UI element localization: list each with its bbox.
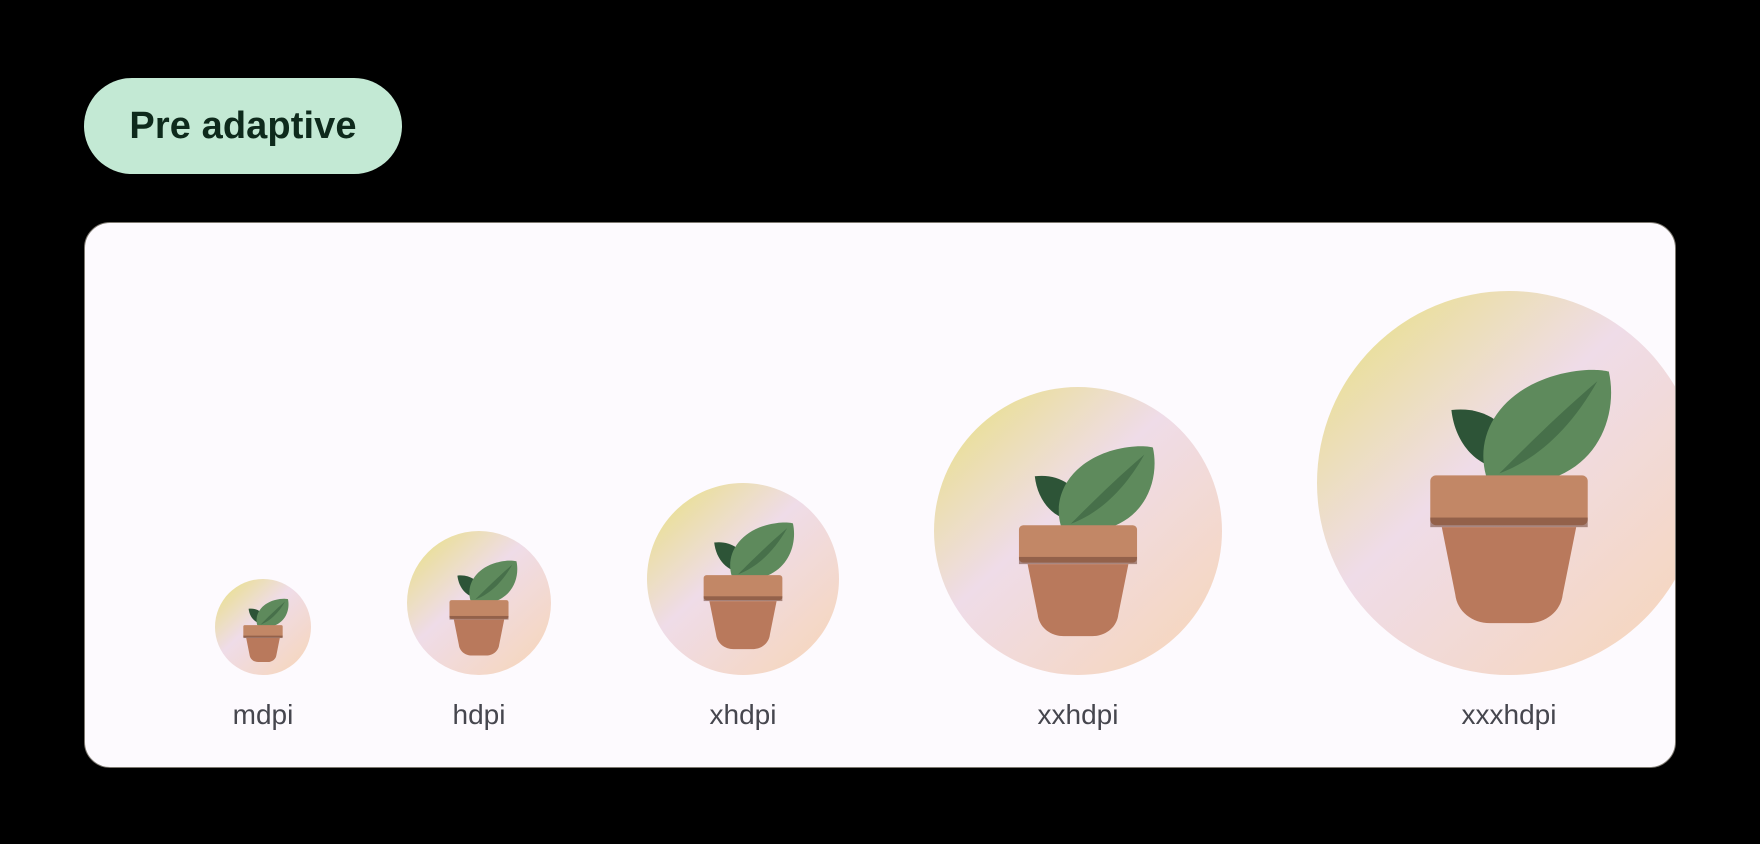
density-label-xxhdpi: xxhdpi xyxy=(1038,701,1119,729)
pot-body xyxy=(1028,564,1129,636)
pot-rim-shadow xyxy=(449,616,508,620)
status-badge-label: Pre adaptive xyxy=(129,107,356,145)
potted-plant-icon xyxy=(647,483,839,675)
pot-rim-shadow xyxy=(243,636,282,638)
pot-body xyxy=(454,620,504,656)
pot-body xyxy=(709,601,776,649)
potted-plant-icon xyxy=(934,387,1222,675)
density-icon-xxhdpi xyxy=(934,387,1222,675)
potted-plant-icon xyxy=(407,531,551,675)
pot-rim-shadow xyxy=(1430,518,1587,528)
density-label-hdpi: hdpi xyxy=(453,701,506,729)
density-icon-hdpi xyxy=(407,531,551,675)
density-row: mdpi hdpi xyxy=(85,223,1675,767)
density-item-xxhdpi[interactable]: xxhdpi xyxy=(878,387,1278,729)
density-icon-xxxhdpi xyxy=(1317,291,1676,675)
pot-body xyxy=(1442,527,1576,623)
pot-body xyxy=(246,638,280,662)
density-showcase-card: mdpi hdpi xyxy=(84,222,1676,768)
density-label-xxxhdpi: xxxhdpi xyxy=(1462,701,1557,729)
pot-rim-shadow xyxy=(1019,557,1137,564)
pot-rim-shadow xyxy=(704,596,783,601)
screen-root: Pre adaptive mdpi xyxy=(0,0,1760,844)
status-badge: Pre adaptive xyxy=(84,78,402,174)
potted-plant-icon xyxy=(1317,291,1676,675)
density-item-xxxhdpi[interactable]: xxxhdpi xyxy=(1309,291,1676,729)
density-icon-xhdpi xyxy=(647,483,839,675)
density-label-xhdpi: xhdpi xyxy=(710,701,777,729)
